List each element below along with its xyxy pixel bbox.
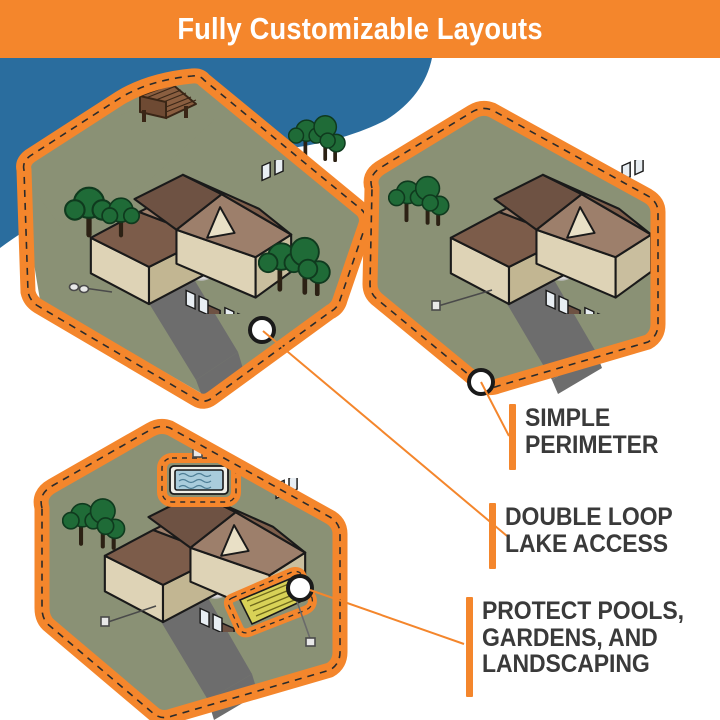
- marker-pools-gardens[interactable]: [288, 576, 312, 600]
- callout-double-loop-lake-access[interactable]: DOUBLE LOOP LAKE ACCESS: [489, 503, 687, 569]
- diagram-lake-access[interactable]: [18, 76, 367, 401]
- infographic-canvas: Fully Customizable Layouts SIMPLE PERIME…: [0, 0, 720, 720]
- diagram-simple-perimeter[interactable]: [370, 108, 658, 394]
- callout-simple-perimeter[interactable]: SIMPLE PERIMETER: [509, 404, 670, 470]
- callout-bar-simple-perimeter: [509, 404, 516, 470]
- callout-bar-protect-pools-gardens: [466, 597, 473, 697]
- callout-label-double-loop-lake-access: DOUBLE LOOP LAKE ACCESS: [505, 503, 673, 569]
- page-title: Fully Customizable Layouts: [43, 0, 677, 58]
- callout-label-protect-pools-gardens: PROTECT POOLS, GARDENS, AND LANDSCAPING: [482, 597, 684, 697]
- callout-bar-double-loop-lake-access: [489, 503, 496, 569]
- diagram-pools-gardens[interactable]: [41, 426, 340, 720]
- callout-label-simple-perimeter: SIMPLE PERIMETER: [525, 404, 658, 470]
- callout-protect-pools-gardens[interactable]: PROTECT POOLS, GARDENS, AND LANDSCAPING: [466, 597, 701, 697]
